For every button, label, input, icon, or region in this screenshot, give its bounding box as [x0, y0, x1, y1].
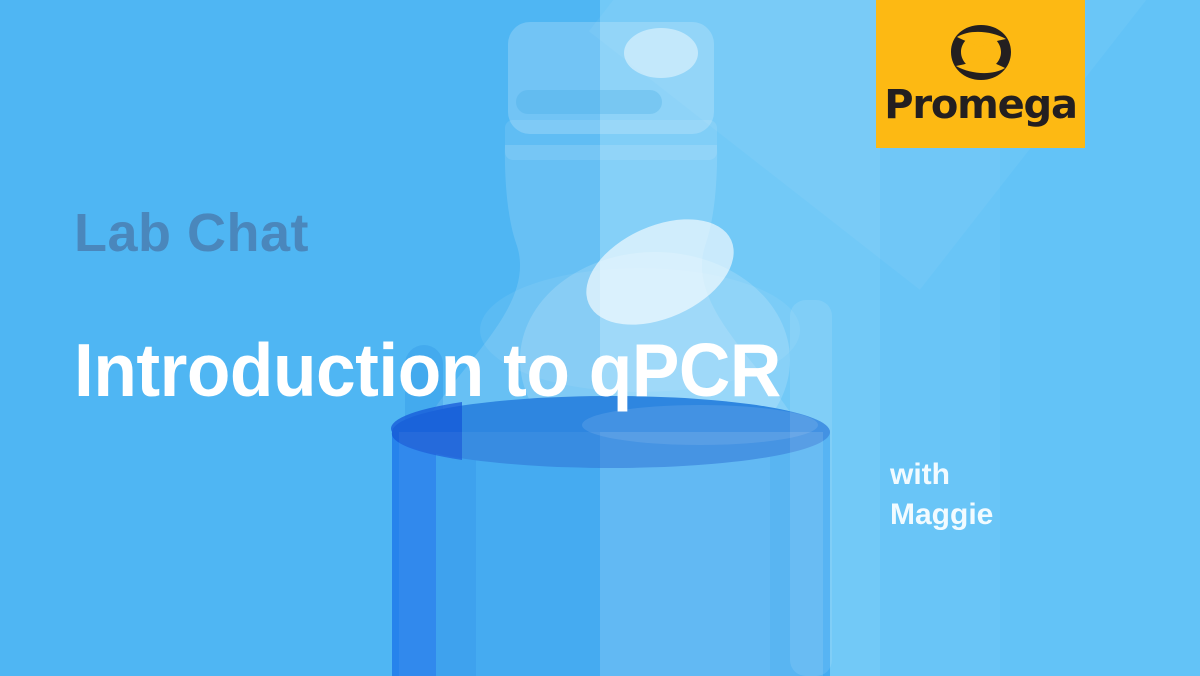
brand-wordmark: Promega	[884, 85, 1077, 125]
page-title: Introduction to qPCR	[74, 333, 781, 408]
bottle-cap	[508, 22, 714, 134]
presenter-prefix: with	[890, 458, 950, 491]
presenter-credit: with Maggie	[890, 455, 993, 534]
cap-label-stripe	[516, 90, 662, 114]
brand-logo-block: Promega	[876, 0, 1085, 148]
presenter-name: Maggie	[890, 495, 993, 535]
bottle-glass-overlay	[399, 432, 823, 676]
promega-ring-icon	[948, 23, 1014, 83]
cap-highlight-ellipse	[624, 28, 698, 78]
glass-edge-right	[790, 300, 832, 676]
video-title-slide: Lab Chat Introduction to qPCR with Maggi…	[0, 0, 1200, 676]
series-kicker: Lab Chat	[74, 206, 309, 260]
